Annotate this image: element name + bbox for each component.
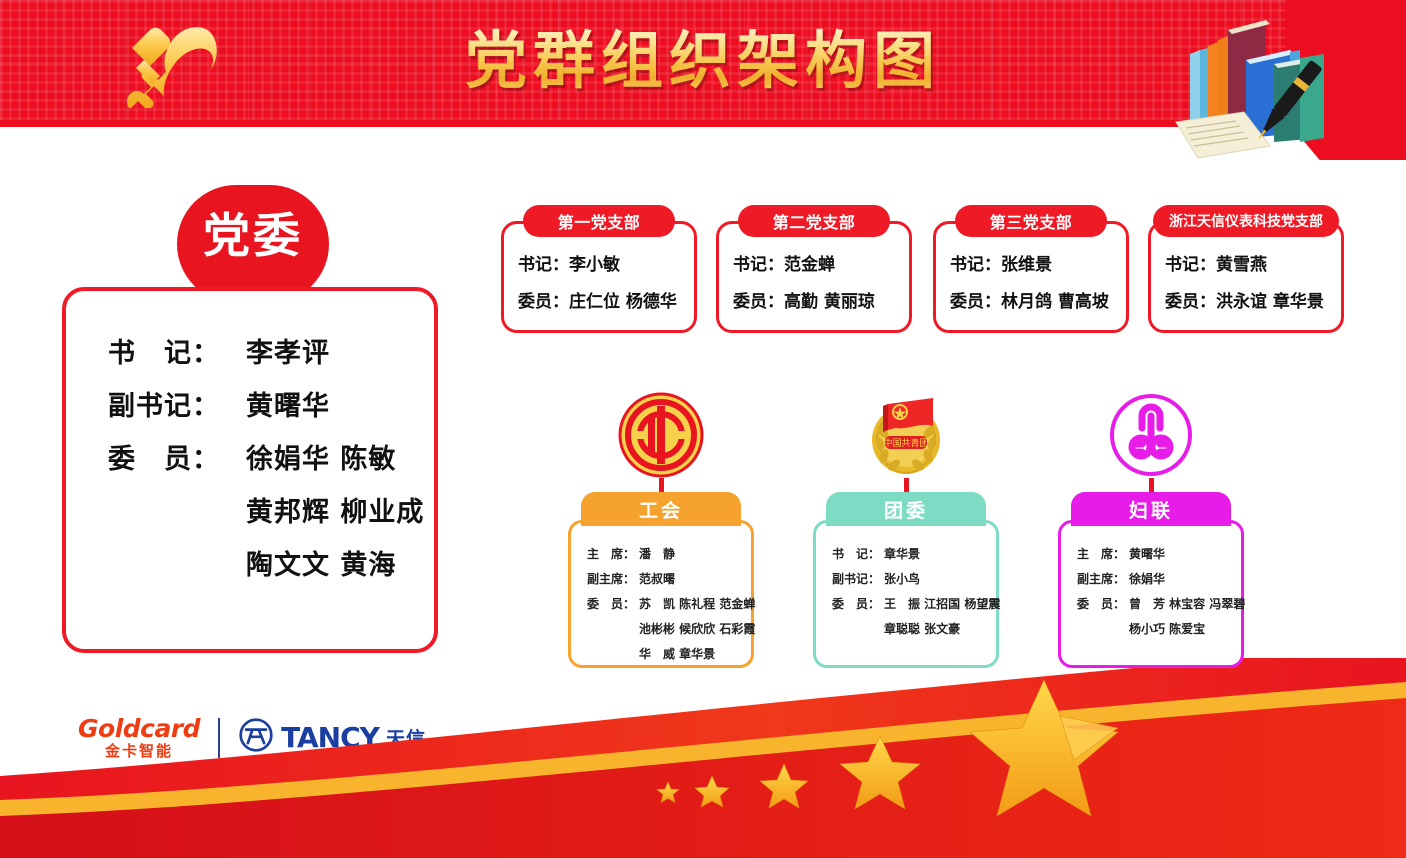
goldcard-logo-en: Goldcard [78,716,200,741]
party-committee-roster: 书 记： 李孝评 副书记： 黄曙华 委 员： 徐娟华 陈敏 委 员： 黄邦辉 柳… [108,331,420,596]
org-roster-value: 王 振 江招国 杨望震 [884,595,1000,612]
branch-secretary: 书记：张维景 [950,250,1126,275]
org-roster-row: 副主席： 范叔曙 [587,570,751,587]
branch-body: 书记：李小敏 委员：庄仁位 杨德华 [501,221,697,333]
company-logos: Goldcard 金卡智能 TANCY 天信 [78,716,426,759]
org-title-tab: 团委 [826,492,986,526]
womens-federation-block: 妇联 主 席： 黄曙华 副主席： 徐娟华 委 员： 曾 芳 林宝容 冯翠碧 委 … [1058,392,1244,668]
org-title: 妇联 [1129,496,1173,523]
roster-value: 陶文文 黄海 [246,543,396,582]
svg-text:中国共青团: 中国共青团 [883,437,928,449]
trade-union-block: 工会 主 席： 潘 静 副主席： 范叔曙 委 员： 苏 凯 陈礼程 范金蝉 委 … [568,392,754,668]
org-roster-label: 书 记： [832,545,884,562]
org-roster-label: 副书记： [832,570,884,587]
books-and-pen-icon [1174,12,1344,162]
branch-title-tab: 第一党支部 [523,205,675,237]
tancy-mark-icon [238,717,274,758]
org-roster-label: 委 员： [832,595,884,612]
org-roster-value: 华 威 章华景 [639,645,715,662]
branch-title-tab: 第二党支部 [738,205,890,237]
party-committee-badge-label: 党委 [203,213,303,260]
logo-divider [218,718,220,758]
connector-stem [1149,478,1154,492]
org-roster-label: 委 员： [587,595,639,612]
roster-value: 黄邦辉 柳业成 [246,490,424,529]
org-roster-label: 副主席： [1077,570,1129,587]
org-roster-row: 主 席： 黄曙华 [1077,545,1241,562]
org-roster-label: 副主席： [587,570,639,587]
org-roster-value: 章聪聪 张文豪 [884,620,960,637]
youth-league-block: 中国共青团 团委 书 记： 章华景 副书记： 张小鸟 委 员： 王 振 江招国 … [813,392,999,668]
roster-label: 书 记： [108,331,246,370]
org-roster-label: 委 员： [1077,595,1129,612]
branch-body: 书记：范金蝉 委员：高勤 黄丽琼 [716,221,912,333]
branch-title: 第三党支部 [990,209,1073,233]
org-roster-value: 杨小巧 陈爱宝 [1129,620,1205,637]
branch-members: 委员：林月鸽 曹高坡 [950,287,1126,312]
roster-value: 黄曙华 [246,384,330,423]
org-roster-row: 副主席： 徐娟华 [1077,570,1241,587]
poster-root: 党群组织架构图 [0,0,1406,858]
org-roster-row: 委 员： 池彬彬 候欣欣 石彩霞 [587,620,751,637]
branch-body: 书记：黄雪燕 委员：洪永谊 章华景 [1148,221,1344,333]
roster-row: 委 员： 陶文文 黄海 [108,543,420,582]
org-roster-value: 池彬彬 候欣欣 石彩霞 [639,620,755,637]
roster-label: 委 员： [108,437,246,476]
branch-members: 委员：洪永谊 章华景 [1165,287,1341,312]
org-roster-label: 主 席： [587,545,639,562]
org-body: 主 席： 潘 静 副主席： 范叔曙 委 员： 苏 凯 陈礼程 范金蝉 委 员： … [568,520,754,668]
org-title-tab: 工会 [581,492,741,526]
org-roster-row: 委 员： 曾 芳 林宝容 冯翠碧 [1077,595,1241,612]
party-committee-card: 书 记： 李孝评 副书记： 黄曙华 委 员： 徐娟华 陈敏 委 员： 黄邦辉 柳… [62,287,438,653]
party-branch-card-2: 第二党支部 书记：范金蝉 委员：高勤 黄丽琼 [716,205,912,333]
connector-stem [904,478,909,492]
org-roster-value: 黄曙华 [1129,545,1165,562]
org-roster-value: 章华景 [884,545,920,562]
org-roster-value: 张小鸟 [884,570,920,587]
tancy-logo-cn: 天信 [386,724,426,751]
branch-secretary: 书记：李小敏 [518,250,694,275]
branch-title: 第二党支部 [773,209,856,233]
party-branch-card-3: 第三党支部 书记：张维景 委员：林月鸽 曹高坡 [933,205,1129,333]
org-roster-row: 主 席： 潘 静 [587,545,751,562]
trade-union-emblem-icon [618,392,704,478]
org-roster-value: 徐娟华 [1129,570,1165,587]
org-body: 书 记： 章华景 副书记： 张小鸟 委 员： 王 振 江招国 杨望震 委 员： … [813,520,999,668]
org-roster-row: 副书记： 张小鸟 [832,570,996,587]
org-roster-row: 委 员： 杨小巧 陈爱宝 [1077,620,1241,637]
party-branch-card-1: 第一党支部 书记：李小敏 委员：庄仁位 杨德华 [501,205,697,333]
tancy-logo-en: TANCY [281,721,379,754]
org-roster-row: 委 员： 章聪聪 张文豪 [832,620,996,637]
branch-body: 书记：张维景 委员：林月鸽 曹高坡 [933,221,1129,333]
goldcard-logo: Goldcard 金卡智能 [78,716,200,759]
connector-stem [659,478,664,492]
branch-members: 委员：庄仁位 杨德华 [518,287,694,312]
party-branch-card-4: 浙江天信仪表科技党支部 书记：黄雪燕 委员：洪永谊 章华景 [1148,205,1344,333]
branch-title: 第一党支部 [558,209,641,233]
branch-title: 浙江天信仪表科技党支部 [1169,211,1323,231]
roster-row: 委 员： 黄邦辉 柳业成 [108,490,420,529]
roster-value: 徐娟华 陈敏 [246,437,396,476]
org-roster-value: 潘 静 [639,545,675,562]
org-title-tab: 妇联 [1071,492,1231,526]
org-roster-row: 委 员： 王 振 江招国 杨望震 [832,595,996,612]
org-roster-value: 曾 芳 林宝容 冯翠碧 [1129,595,1245,612]
org-roster-value: 苏 凯 陈礼程 范金蝉 [639,595,755,612]
org-title: 工会 [639,496,683,523]
branch-members: 委员：高勤 黄丽琼 [733,287,909,312]
org-roster-value: 范叔曙 [639,570,675,587]
branch-secretary: 书记：范金蝉 [733,250,909,275]
org-title: 团委 [884,496,928,523]
party-committee-block: 党委 书 记： 李孝评 副书记： 黄曙华 委 员： 徐娟华 陈敏 委 员： 黄邦 [62,185,444,665]
communist-youth-league-emblem-icon: 中国共青团 [863,392,949,478]
roster-row: 副书记： 黄曙华 [108,384,420,423]
goldcard-logo-cn: 金卡智能 [105,744,173,759]
org-roster-label: 主 席： [1077,545,1129,562]
branch-secretary: 书记：黄雪燕 [1165,250,1341,275]
party-committee-badge: 党委 [177,185,329,303]
org-roster-row: 委 员： 苏 凯 陈礼程 范金蝉 [587,595,751,612]
tancy-logo: TANCY 天信 [238,717,426,758]
org-roster-row: 书 记： 章华景 [832,545,996,562]
branch-title-tab: 浙江天信仪表科技党支部 [1153,205,1339,237]
roster-value: 李孝评 [246,331,330,370]
roster-row: 书 记： 李孝评 [108,331,420,370]
org-roster-row: 委 员： 华 威 章华景 [587,645,751,662]
roster-label: 副书记： [108,384,246,423]
branch-title-tab: 第三党支部 [955,205,1107,237]
org-body: 主 席： 黄曙华 副主席： 徐娟华 委 员： 曾 芳 林宝容 冯翠碧 委 员： … [1058,520,1244,668]
roster-row: 委 员： 徐娟华 陈敏 [108,437,420,476]
womens-federation-emblem-icon [1108,392,1194,478]
